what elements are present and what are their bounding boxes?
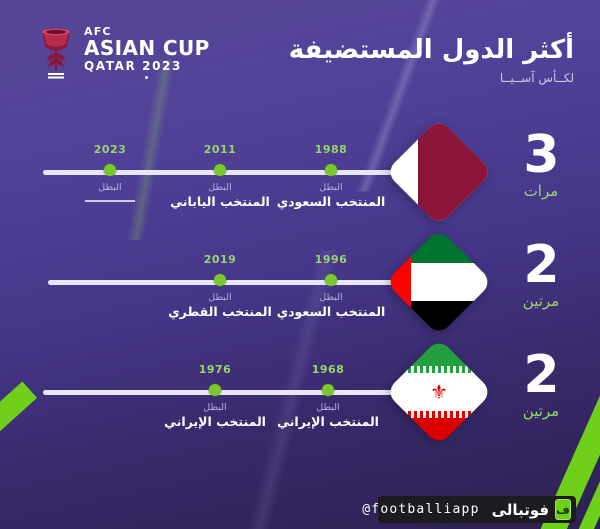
event-year: 1988: [291, 143, 371, 156]
champion-name-placeholder-dash: [85, 200, 135, 202]
champion-label: البطل: [165, 182, 275, 193]
host-count: 3 مرات: [505, 132, 577, 200]
event-year: 1996: [291, 253, 371, 266]
footballi-handle: @footballiapp: [362, 502, 479, 517]
host-count: 2 مرتين: [505, 352, 577, 420]
event-year: 1976: [175, 363, 255, 376]
infographic-poster: AFC ASIAN CUP QATAR 2023 أكثر الدول المس…: [0, 0, 600, 529]
host-count-unit: مرات: [505, 182, 577, 200]
host-count-unit: مرتين: [505, 402, 577, 420]
event-year: 2023: [70, 143, 150, 156]
asian-cup-label: ASIAN CUP: [84, 38, 210, 58]
title-block: أكثر الدول المستضيفة لكــأس آســيــا: [289, 34, 574, 85]
qatar-2023-label: QATAR 2023: [84, 60, 210, 72]
champion-label: البطل: [276, 292, 386, 303]
logo-dot: [145, 76, 148, 79]
champion-name: المنتخب الإيراني: [266, 414, 390, 429]
event-year: 2019: [180, 253, 260, 266]
host-row-qatar: 2023 البطل 2011 البطل المنتخب الياباني 1…: [0, 118, 600, 228]
timeline-dot-icon: [209, 384, 221, 396]
qatar-flag-icon: [393, 126, 485, 218]
timeline-dot-icon: [214, 164, 226, 176]
host-count-number: 2: [505, 352, 577, 400]
afc-asian-cup-logo: AFC ASIAN CUP QATAR 2023: [36, 26, 210, 79]
host-count: 2 مرتين: [505, 242, 577, 310]
champion-name: المنتخب السعودي: [269, 304, 393, 319]
host-count-unit: مرتين: [505, 292, 577, 310]
footballi-logo-icon: ف: [555, 499, 571, 520]
host-count-number: 3: [505, 132, 577, 180]
iran-flag-icon: ⚜: [393, 346, 485, 438]
afc-trophy-icon: [36, 27, 76, 79]
champion-label: البطل: [165, 292, 275, 303]
page-subtitle: لكــأس آســيــا: [289, 71, 574, 85]
footballi-name-fa: فوتبالی: [492, 501, 549, 519]
timeline-dot-icon: [325, 274, 337, 286]
champion-label: البطل: [55, 182, 165, 193]
uae-flag-icon: [393, 236, 485, 328]
champion-label: البطل: [273, 402, 383, 413]
host-count-number: 2: [505, 242, 577, 290]
timeline-dot-icon: [322, 384, 334, 396]
host-row-iran: 1976 البطل المنتخب الإيراني 1968 البطل ا…: [0, 338, 600, 448]
host-row-uae: 2019 البطل المنتخب القطري 1996 البطل الم…: [0, 228, 600, 338]
champion-name: المنتخب الياباني: [158, 194, 282, 209]
footballi-watermark-badge[interactable]: @footballiapp فوتبالی ف: [378, 496, 576, 523]
champion-name: المنتخب القطري: [158, 304, 282, 319]
timeline-dot-icon: [214, 274, 226, 286]
event-year: 1968: [288, 363, 368, 376]
champion-name: المنتخب السعودي: [269, 194, 393, 209]
champion-label: البطل: [276, 182, 386, 193]
page-title: أكثر الدول المستضيفة: [289, 34, 574, 67]
champion-label: البطل: [160, 402, 270, 413]
champion-name: المنتخب الإيراني: [153, 414, 277, 429]
event-year: 2011: [180, 143, 260, 156]
timeline-dot-icon: [325, 164, 337, 176]
timeline-dot-icon: [104, 164, 116, 176]
iran-emblem-icon: ⚜: [430, 382, 448, 402]
